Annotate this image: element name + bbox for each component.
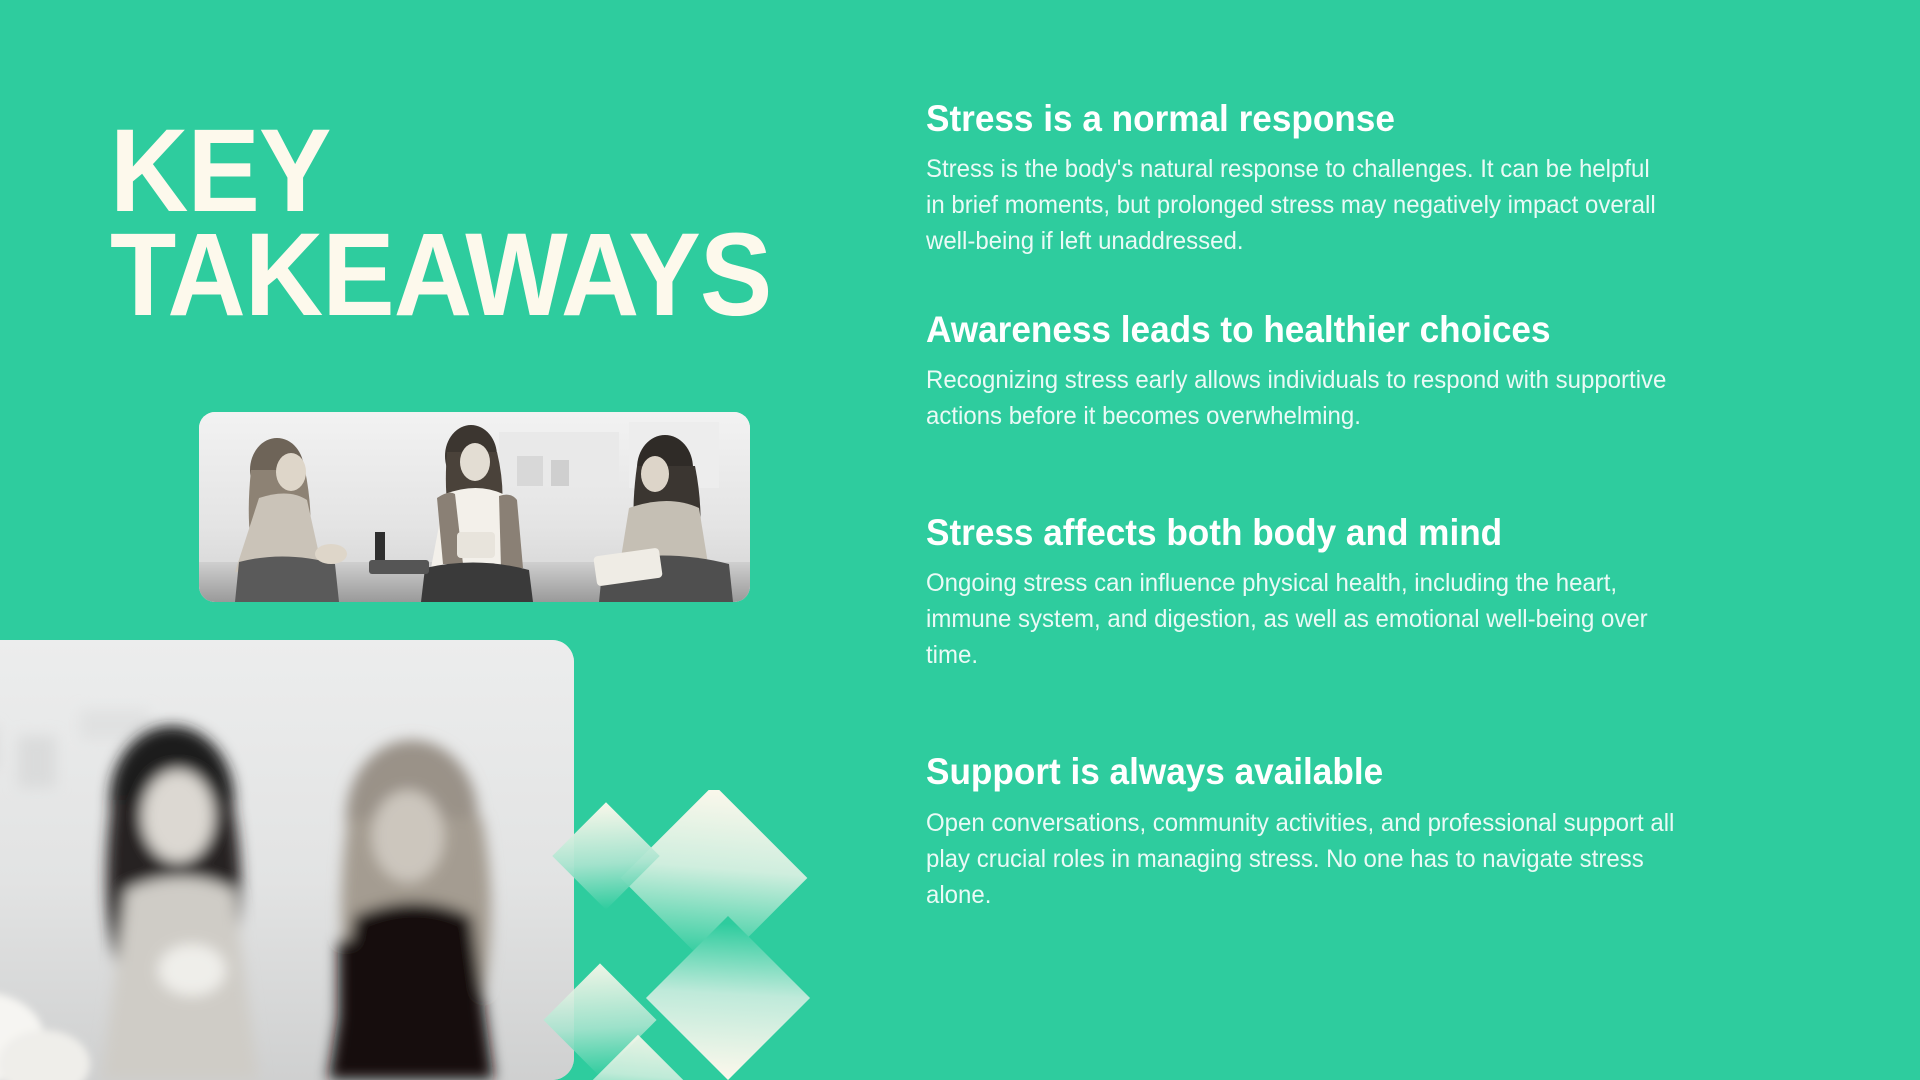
key-takeaways-slide: KEY TAKEAWAYS: [0, 0, 1920, 1080]
takeaway-item-3: Stress affects both body and mind Ongoin…: [926, 510, 1746, 673]
takeaway-item-2: Awareness leads to healthier choices Rec…: [926, 307, 1746, 434]
takeaway-body-1: Stress is the body's natural response to…: [926, 151, 1675, 259]
takeaway-body-4: Open conversations, community activities…: [926, 805, 1675, 913]
left-column: KEY TAKEAWAYS: [0, 0, 900, 1080]
takeaway-body-2: Recognizing stress early allows individu…: [926, 362, 1675, 434]
takeaways-list: Stress is a normal response Stress is th…: [926, 96, 1746, 913]
page-title: KEY TAKEAWAYS: [110, 120, 830, 328]
takeaway-body-3: Ongoing stress can influence physical he…: [926, 565, 1675, 673]
bottom-photo-illustration: [0, 640, 574, 1080]
takeaway-heading-4: Support is always available: [926, 749, 1705, 794]
takeaway-heading-2: Awareness leads to healthier choices: [926, 307, 1705, 352]
page-title-line-2: TAKEAWAYS: [110, 224, 772, 328]
takeaway-heading-3: Stress affects both body and mind: [926, 510, 1705, 555]
takeaway-heading-1: Stress is a normal response: [926, 96, 1705, 141]
two-women-listening-photo: [0, 640, 574, 1080]
takeaway-item-1: Stress is a normal response Stress is th…: [926, 96, 1746, 259]
top-photo-illustration: [199, 412, 750, 602]
three-women-in-conversation-photo: [199, 412, 750, 602]
takeaway-item-4: Support is always available Open convers…: [926, 749, 1746, 912]
